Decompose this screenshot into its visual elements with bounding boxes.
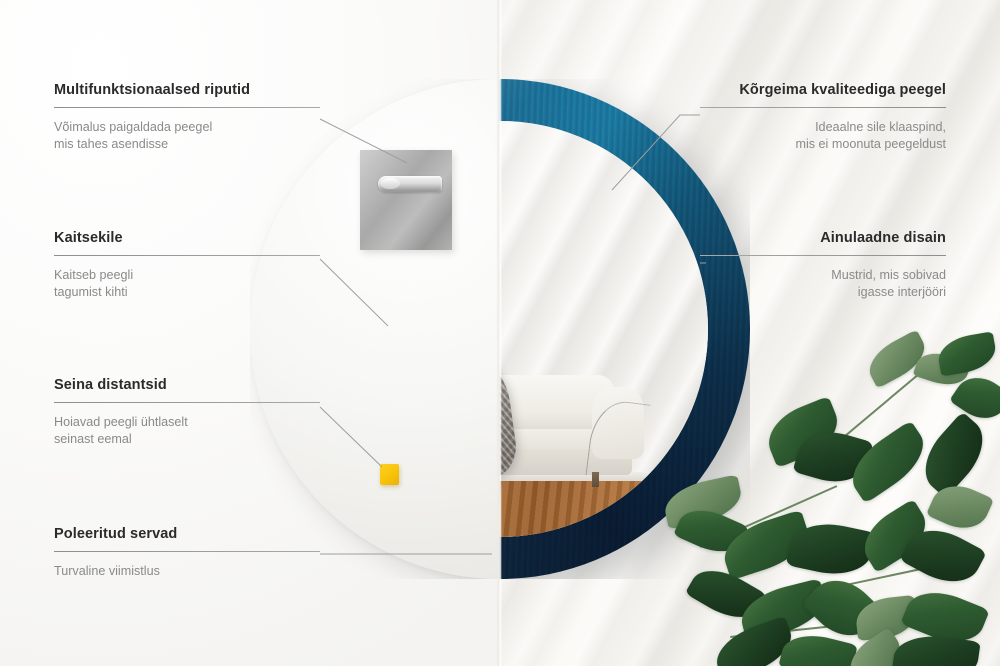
callout-description: Ideaalne sile klaaspind, mis ei moonuta … [700,119,946,153]
hanger-keyhole-slot [378,176,442,192]
panel-seam [496,0,502,666]
callout-title: Seina distantsid [54,377,320,393]
callout-multifunctional-hangers: Multifunktsionaalsed riputid Võimalus pa… [54,82,320,153]
callout-title: Multifunktsionaalsed riputid [54,82,320,98]
callout-protective-film: Kaitsekile Kaitseb peegli tagumist kihti [54,230,320,301]
callout-divider [700,107,946,108]
callout-polished-edges: Poleeritud servad Turvaline viimistlus [54,526,320,580]
callout-title: Kaitsekile [54,230,320,246]
foliage-plant [670,336,1000,666]
callout-description: Kaitseb peegli tagumist kihti [54,267,320,301]
callout-description: Hoiavad peegli ühtlaselt seinast eemal [54,414,320,448]
callout-highest-quality-mirror: Kõrgeima kvaliteediga peegel Ideaalne si… [700,82,946,153]
callout-divider [54,107,320,108]
callout-unique-design: Ainulaadne disain Mustrid, mis sobivad i… [700,230,946,301]
callout-description: Mustrid, mis sobivad igasse interjööri [700,267,946,301]
callout-divider [54,402,320,403]
hanger-plate [360,150,452,250]
callout-title: Kõrgeima kvaliteediga peegel [700,82,946,98]
plant-leaf [935,331,998,377]
yellow-wall-spacer [380,464,399,485]
callout-wall-spacers: Seina distantsid Hoiavad peegli ühtlasel… [54,377,320,448]
infographic-canvas: Multifunktsionaalsed riputid Võimalus pa… [0,0,1000,666]
callout-title: Ainulaadne disain [700,230,946,246]
callout-divider [54,255,320,256]
callout-divider [54,551,320,552]
callout-description: Turvaline viimistlus [54,563,320,580]
callout-divider [700,255,946,256]
callout-title: Poleeritud servad [54,526,320,542]
callout-description: Võimalus paigaldada peegel mis tahes ase… [54,119,320,153]
